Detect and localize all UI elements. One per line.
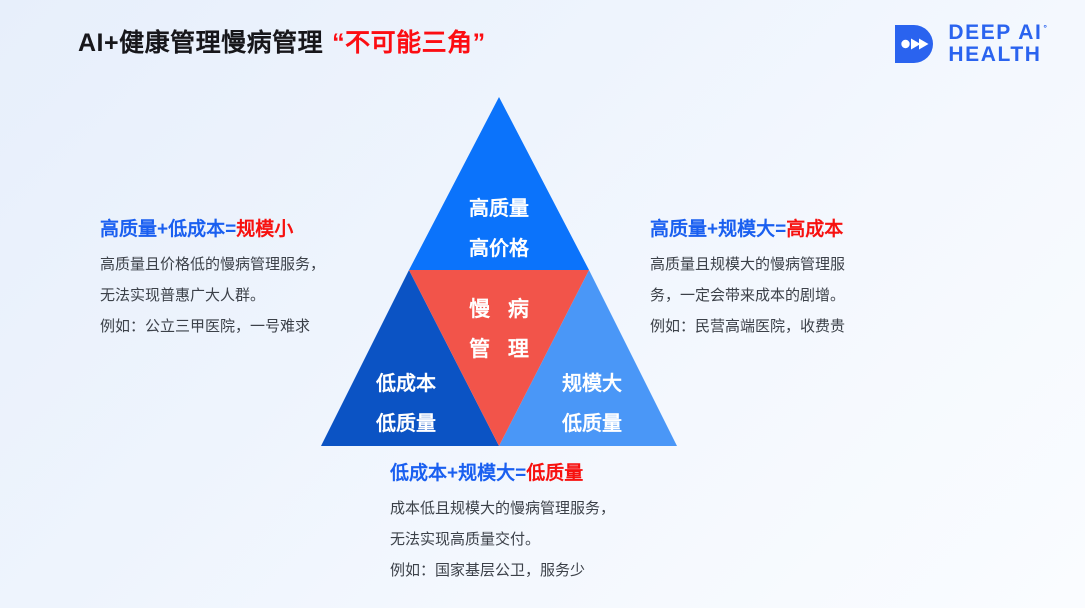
brand-logo-line1: DEEP AI°	[948, 22, 1047, 44]
callout-right-heading-red: 高成本	[786, 219, 843, 240]
callout-right-line-2: 务，一定会带来成本的剧增。	[650, 286, 845, 306]
page-title: AI+健康管理慢病管理“不可能三角”	[78, 28, 486, 58]
callout-left-body: 高质量且价格低的慢病管理服务， 无法实现普惠广大人群。 例如：公立三甲医院，一号…	[100, 255, 325, 338]
callout-left: 高质量+低成本=规模小 高质量且价格低的慢病管理服务， 无法实现普惠广大人群。 …	[100, 218, 325, 338]
callout-right: 高质量+规模大=高成本 高质量且规模大的慢病管理服 务，一定会带来成本的剧增。 …	[650, 218, 845, 338]
callout-bottom: 低成本+规模大=低质量 成本低且规模大的慢病管理服务， 无法实现高质量交付。 例…	[390, 462, 615, 582]
callout-right-body: 高质量且规模大的慢病管理服 务，一定会带来成本的剧增。 例如：民营高端医院，收费…	[650, 255, 845, 338]
impossible-triangle-diagram: 高质量 高价格 低成本 低质量 规模大 低质量 慢 病 管 理	[300, 80, 700, 470]
slide-canvas: AI+健康管理慢病管理“不可能三角” DEEP AI° HEALTH 高质量 高…	[0, 0, 1085, 608]
callout-right-heading-blue: 高质量+规模大=	[650, 219, 786, 240]
callout-right-line-3: 例如：民营高端医院，收费贵	[650, 317, 845, 337]
callout-left-heading-blue: 高质量+低成本=	[100, 219, 236, 240]
brand-logo-line1-text: DEEP AI	[948, 21, 1042, 44]
triangle-svg: 高质量 高价格 低成本 低质量 规模大 低质量 慢 病 管 理	[300, 80, 700, 470]
registered-mark-icon: °	[1043, 23, 1047, 33]
triangle-segment-center-line2: 管 理	[469, 337, 535, 361]
triangle-segment-top-line2: 高价格	[469, 236, 530, 260]
triangle-segment-bottom-right-line1: 规模大	[562, 371, 622, 395]
callout-right-line-1: 高质量且规模大的慢病管理服	[650, 255, 845, 275]
brand-logo-text: DEEP AI° HEALTH	[948, 22, 1047, 67]
brand-logo: DEEP AI° HEALTH	[892, 22, 1047, 67]
triangle-segment-top[interactable]: 高质量 高价格	[409, 97, 589, 270]
callout-left-line-3: 例如：公立三甲医院，一号难求	[100, 317, 325, 337]
triangle-segment-bottom-left-line2: 低质量	[375, 411, 436, 435]
page-title-quote: “不可能三角”	[332, 29, 486, 57]
callout-bottom-heading-blue: 低成本+规模大=	[390, 463, 526, 484]
triangle-segment-center-line1: 慢 病	[469, 297, 535, 321]
callout-right-heading: 高质量+规模大=高成本	[650, 218, 845, 242]
triangle-segment-top-line1: 高质量	[469, 196, 529, 220]
callout-bottom-line-3: 例如：国家基层公卫，服务少	[390, 561, 615, 581]
callout-left-heading-red: 规模小	[236, 219, 293, 240]
callout-left-line-1: 高质量且价格低的慢病管理服务，	[100, 255, 325, 275]
callout-bottom-heading-red: 低质量	[526, 463, 583, 484]
callout-bottom-line-2: 无法实现高质量交付。	[390, 530, 615, 550]
callout-bottom-body: 成本低且规模大的慢病管理服务， 无法实现高质量交付。 例如：国家基层公卫，服务少	[390, 499, 615, 582]
callout-left-line-2: 无法实现普惠广大人群。	[100, 286, 325, 306]
callout-bottom-heading: 低成本+规模大=低质量	[390, 462, 615, 486]
triangle-segment-bottom-right-line2: 低质量	[561, 411, 622, 435]
callout-left-heading: 高质量+低成本=规模小	[100, 218, 325, 242]
callout-bottom-line-1: 成本低且规模大的慢病管理服务，	[390, 499, 615, 519]
deep-ai-health-d-mark-icon	[892, 22, 936, 66]
page-title-main: AI+健康管理慢病管理	[78, 29, 323, 57]
brand-logo-line2: HEALTH	[948, 44, 1047, 66]
triangle-segment-bottom-left-line1: 低成本	[375, 371, 436, 395]
